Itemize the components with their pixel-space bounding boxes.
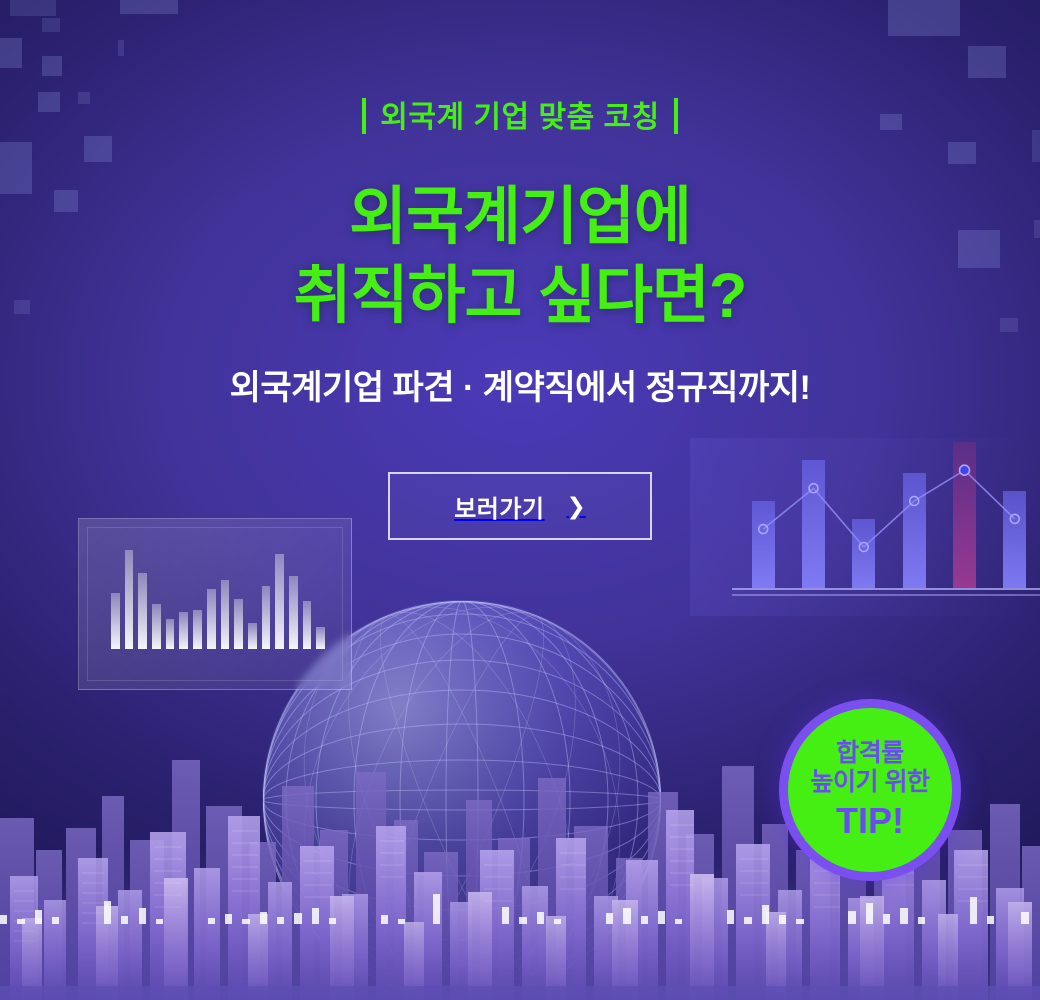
chart-axis-line-secondary xyxy=(732,594,1040,596)
view-more-button[interactable]: 보러가기 ❯ xyxy=(388,472,652,540)
chart-axis-line xyxy=(732,588,1040,590)
decorative-square xyxy=(118,40,124,56)
decorative-square xyxy=(42,56,62,76)
bar xyxy=(316,627,325,649)
tip-badge-line-3: TIP! xyxy=(836,800,904,841)
glass-stat-panel xyxy=(78,518,352,690)
decorative-square xyxy=(968,46,1006,78)
bar xyxy=(125,550,134,649)
decorative-square xyxy=(10,0,56,16)
decorative-square xyxy=(120,0,178,14)
bar xyxy=(179,612,188,649)
page-title: 외국계기업에 취직하고 싶다면? xyxy=(0,178,1040,337)
tip-badge-line-2: 높이기 위한 xyxy=(811,768,930,798)
bar xyxy=(166,619,175,649)
decorative-square xyxy=(948,142,976,164)
bar xyxy=(138,573,147,649)
chevron-right-icon: ❯ xyxy=(567,495,586,518)
headline-line-1: 외국계기업에 xyxy=(0,178,1040,257)
bar xyxy=(207,589,216,649)
decorative-square xyxy=(42,18,60,32)
decorative-square xyxy=(888,0,960,36)
tagline: 외국계 기업 맞춤 코칭 xyxy=(0,92,1040,136)
bar xyxy=(152,604,161,649)
bar xyxy=(289,576,298,649)
view-more-label: 보러가기 xyxy=(454,489,544,524)
tip-badge-line-1: 합격률 xyxy=(836,739,904,769)
bar xyxy=(275,554,284,649)
bar xyxy=(111,593,120,649)
bar xyxy=(193,610,202,649)
decorative-square xyxy=(84,136,112,162)
glass-panel-bar-chart xyxy=(111,541,325,649)
bar xyxy=(234,599,243,649)
tagline-bar-left xyxy=(362,98,366,134)
tip-badge[interactable]: 합격률 높이기 위한 TIP! xyxy=(779,699,961,881)
bar-line-combo-chart xyxy=(690,438,1040,616)
bar xyxy=(221,580,230,649)
tagline-bar-right xyxy=(674,98,678,134)
bar xyxy=(303,601,312,649)
tagline-text: 외국계 기업 맞춤 코칭 xyxy=(380,101,659,134)
bar xyxy=(262,586,271,649)
promo-banner: 외국계 기업 맞춤 코칭 외국계기업에 취직하고 싶다면? 외국계기업 파견 ·… xyxy=(0,0,1040,1000)
subtitle: 외국계기업 파견 · 계약직에서 정규직까지! xyxy=(0,360,1040,409)
headline-line-2: 취직하고 싶다면? xyxy=(0,257,1040,336)
bar xyxy=(248,623,257,649)
decorative-square xyxy=(0,38,22,68)
